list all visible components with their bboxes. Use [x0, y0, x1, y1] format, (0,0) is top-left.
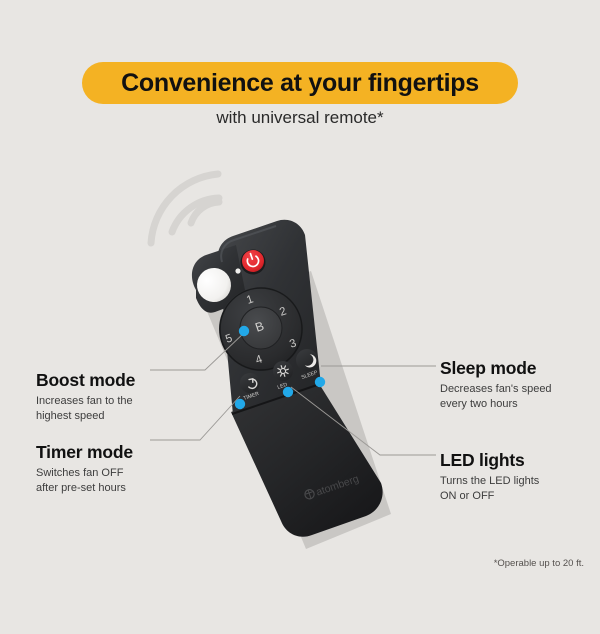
callout-timer-mode: Timer mode Switches fan OFF after pre-se… [36, 442, 133, 495]
callout-boost-mode: Boost mode Increases fan to the highest … [36, 370, 135, 423]
marker-dot-led [283, 387, 293, 397]
callout-led-line2: ON or OFF [440, 489, 539, 504]
power-button[interactable] [241, 250, 266, 275]
remote-illustration: 1 2 3 4 5 B TIMER LED [0, 0, 600, 634]
callout-led-title: LED lights [440, 450, 539, 471]
marker-dot-timer [235, 399, 245, 409]
promo-graphic: Convenience at your fingertips with univ… [0, 0, 600, 634]
callout-timer-title: Timer mode [36, 442, 133, 463]
callout-sleep-mode: Sleep mode Decreases fan's speed every t… [440, 358, 552, 411]
signal-waves-icon [151, 174, 219, 243]
callout-boost-line1: Increases fan to the [36, 394, 135, 409]
timer-button[interactable]: TIMER [240, 373, 260, 402]
footnote: *Operable up to 20 ft. [0, 558, 584, 569]
marker-dot-boost [239, 326, 249, 336]
leader-line-timer [150, 396, 240, 440]
callout-sleep-line1: Decreases fan's speed [440, 382, 552, 397]
callout-timer-line2: after pre-set hours [36, 481, 133, 496]
callout-boost-title: Boost mode [36, 370, 135, 391]
callout-sleep-line2: every two hours [440, 397, 552, 412]
callout-boost-line2: highest speed [36, 409, 135, 424]
callout-led-lights: LED lights Turns the LED lights ON or OF… [440, 450, 539, 503]
status-led-dot [235, 268, 240, 273]
callout-timer-line1: Switches fan OFF [36, 466, 133, 481]
callout-led-line1: Turns the LED lights [440, 474, 539, 489]
marker-dot-sleep [315, 377, 325, 387]
callout-sleep-title: Sleep mode [440, 358, 552, 379]
